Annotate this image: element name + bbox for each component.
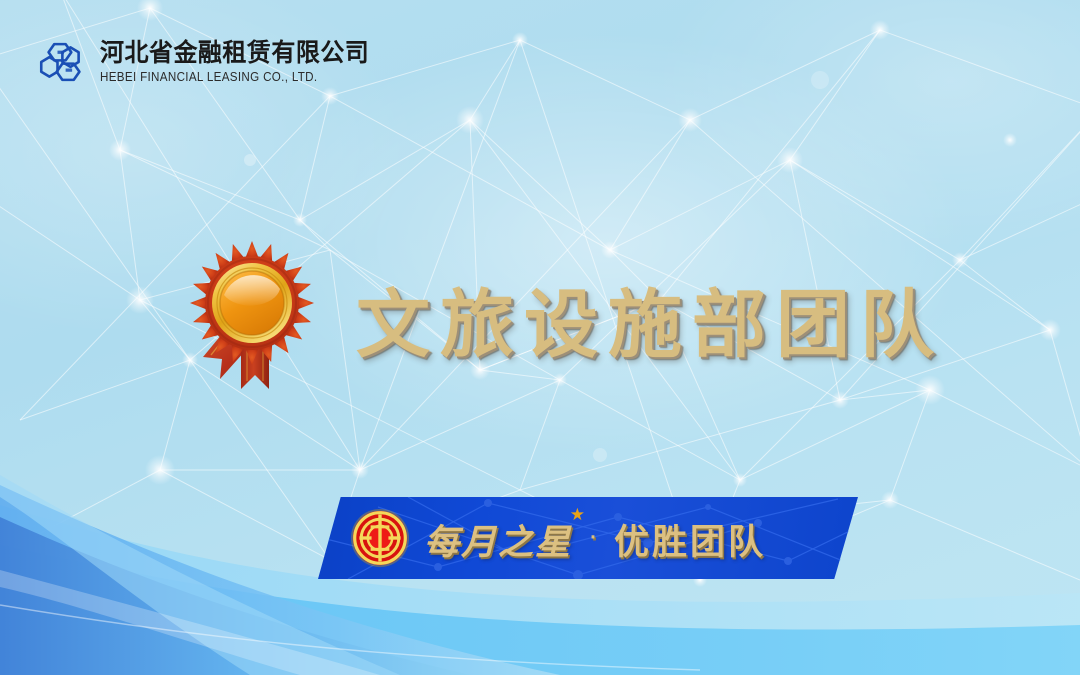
star-icon: ★ [570, 506, 585, 523]
hexagon-interlock-logo-icon [38, 36, 90, 88]
banner-primary-label-wrap: 每月之星 ★ [424, 514, 572, 565]
chinese-trade-union-emblem-icon [350, 508, 410, 568]
award-banner: 每月之星 ★ · 优胜团队 [318, 497, 858, 579]
page-title: 文旅设施部团队 [356, 288, 944, 362]
company-name-cn: 河北省金融租赁有限公司 [100, 41, 369, 66]
banner-secondary-label: 优胜团队 [614, 514, 766, 565]
award-rosette-ribbon-icon [181, 231, 323, 395]
banner-primary-label: 每月之星 [424, 523, 572, 562]
presentation-slide: 河北省金融租赁有限公司 HEBEI FINANCIAL LEASING CO.,… [0, 0, 1080, 675]
company-logo-block: 河北省金融租赁有限公司 HEBEI FINANCIAL LEASING CO.,… [38, 36, 381, 88]
banner-separator: · [588, 521, 598, 551]
company-name-en: HEBEI FINANCIAL LEASING CO., LTD. [100, 71, 361, 84]
